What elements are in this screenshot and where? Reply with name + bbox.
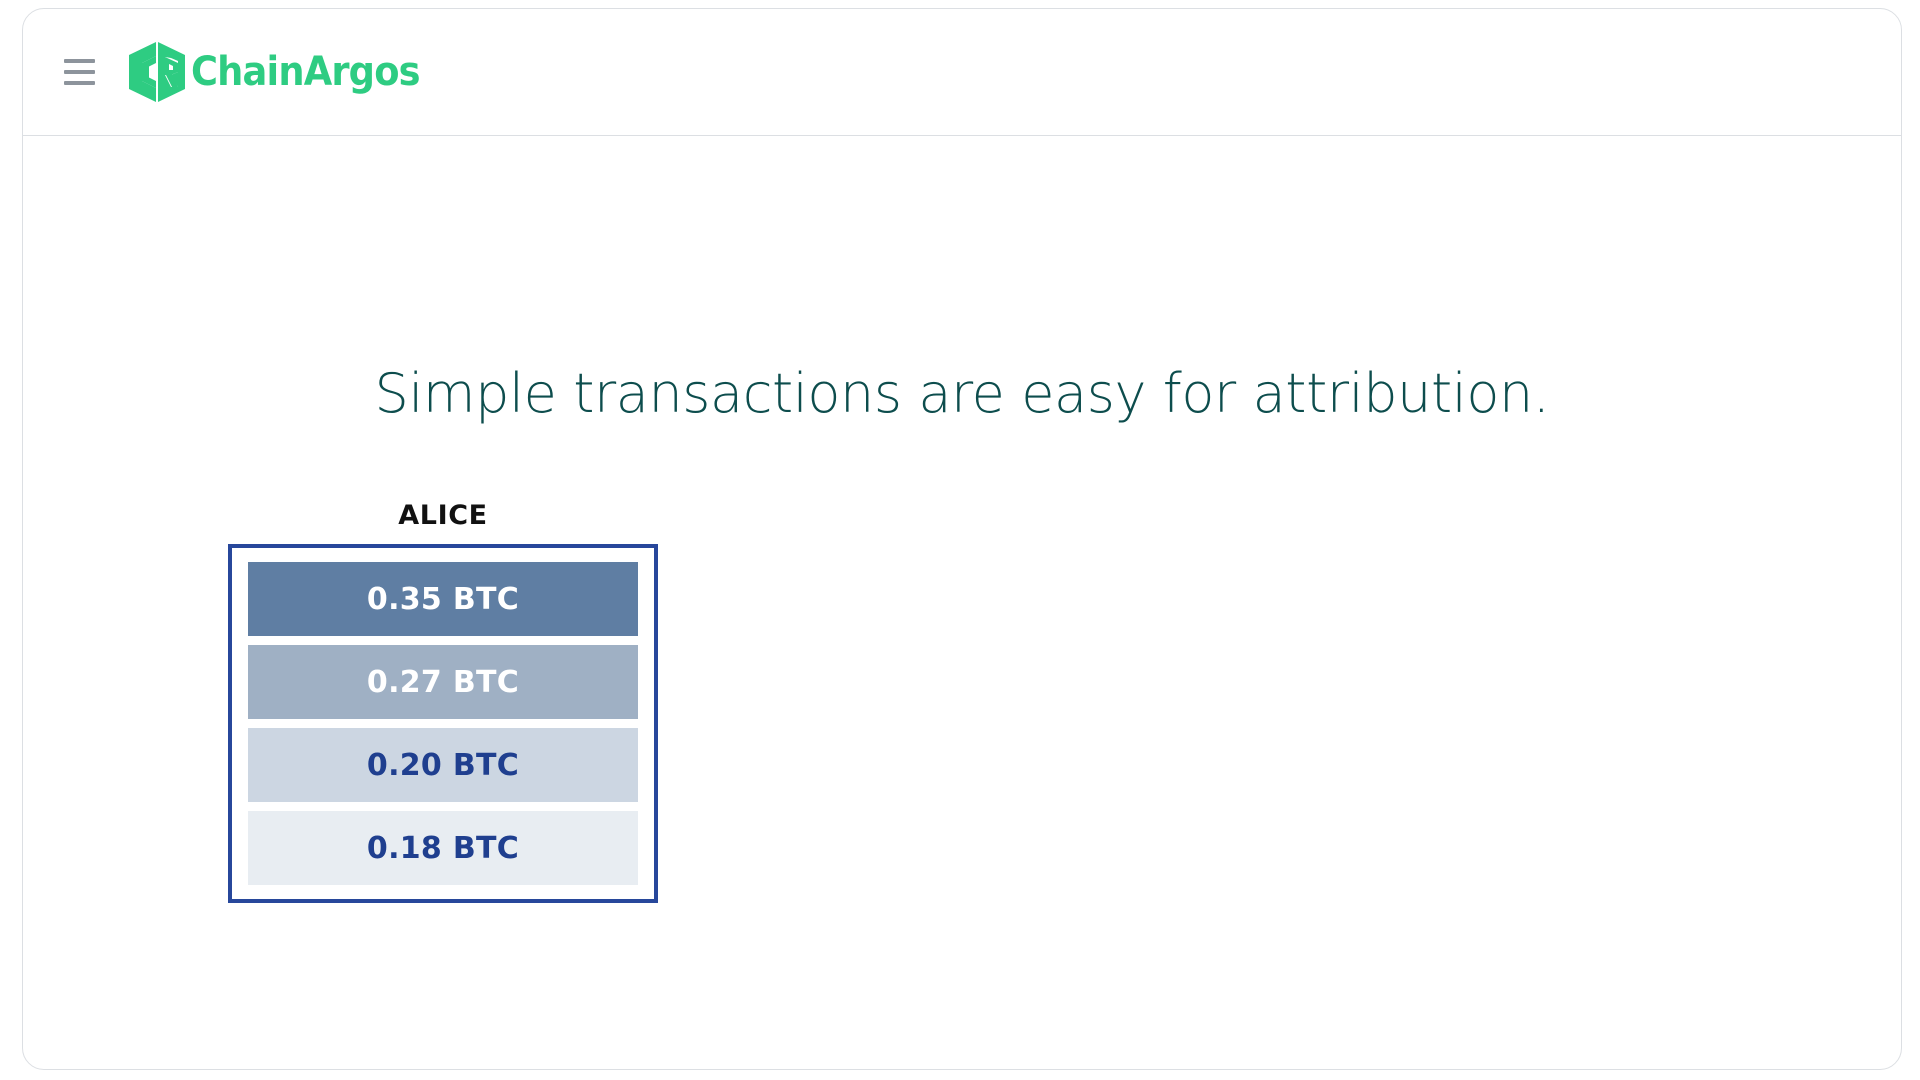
utxo-bar-label: 0.35 BTC bbox=[367, 582, 519, 617]
hamburger-line-3 bbox=[64, 81, 95, 85]
utxo-bar-label: 0.18 BTC bbox=[367, 831, 519, 866]
main-content: Simple transactions are easy for attribu… bbox=[23, 136, 1901, 1068]
utxo-bar: 0.35 BTC bbox=[248, 562, 638, 636]
app-card: ChainArgos Simple transactions are easy … bbox=[22, 8, 1902, 1070]
hamburger-line-2 bbox=[64, 70, 95, 74]
chainargos-hexagon-ca-logo-icon bbox=[125, 41, 189, 103]
brand-name: ChainArgos bbox=[191, 52, 420, 92]
hamburger-menu-icon[interactable] bbox=[59, 52, 99, 92]
utxo-bar-label: 0.27 BTC bbox=[367, 665, 519, 700]
utxo-bar: 0.27 BTC bbox=[248, 645, 638, 719]
brand-logo-link[interactable]: ChainArgos bbox=[125, 41, 440, 103]
app-header: ChainArgos bbox=[23, 9, 1901, 136]
alice-wallet-diagram: ALICE 0.35 BTC 0.27 BTC 0.20 BTC 0.18 BT… bbox=[228, 500, 658, 903]
utxo-bar: 0.20 BTC bbox=[248, 728, 638, 802]
utxo-bar: 0.18 BTC bbox=[248, 811, 638, 885]
utxo-bar-label: 0.20 BTC bbox=[367, 748, 519, 783]
wallet-utxo-box: 0.35 BTC 0.27 BTC 0.20 BTC 0.18 BTC bbox=[228, 544, 658, 903]
page-title: Simple transactions are easy for attribu… bbox=[23, 364, 1901, 423]
hamburger-line-1 bbox=[64, 59, 95, 63]
wallet-owner-label: ALICE bbox=[228, 500, 658, 531]
